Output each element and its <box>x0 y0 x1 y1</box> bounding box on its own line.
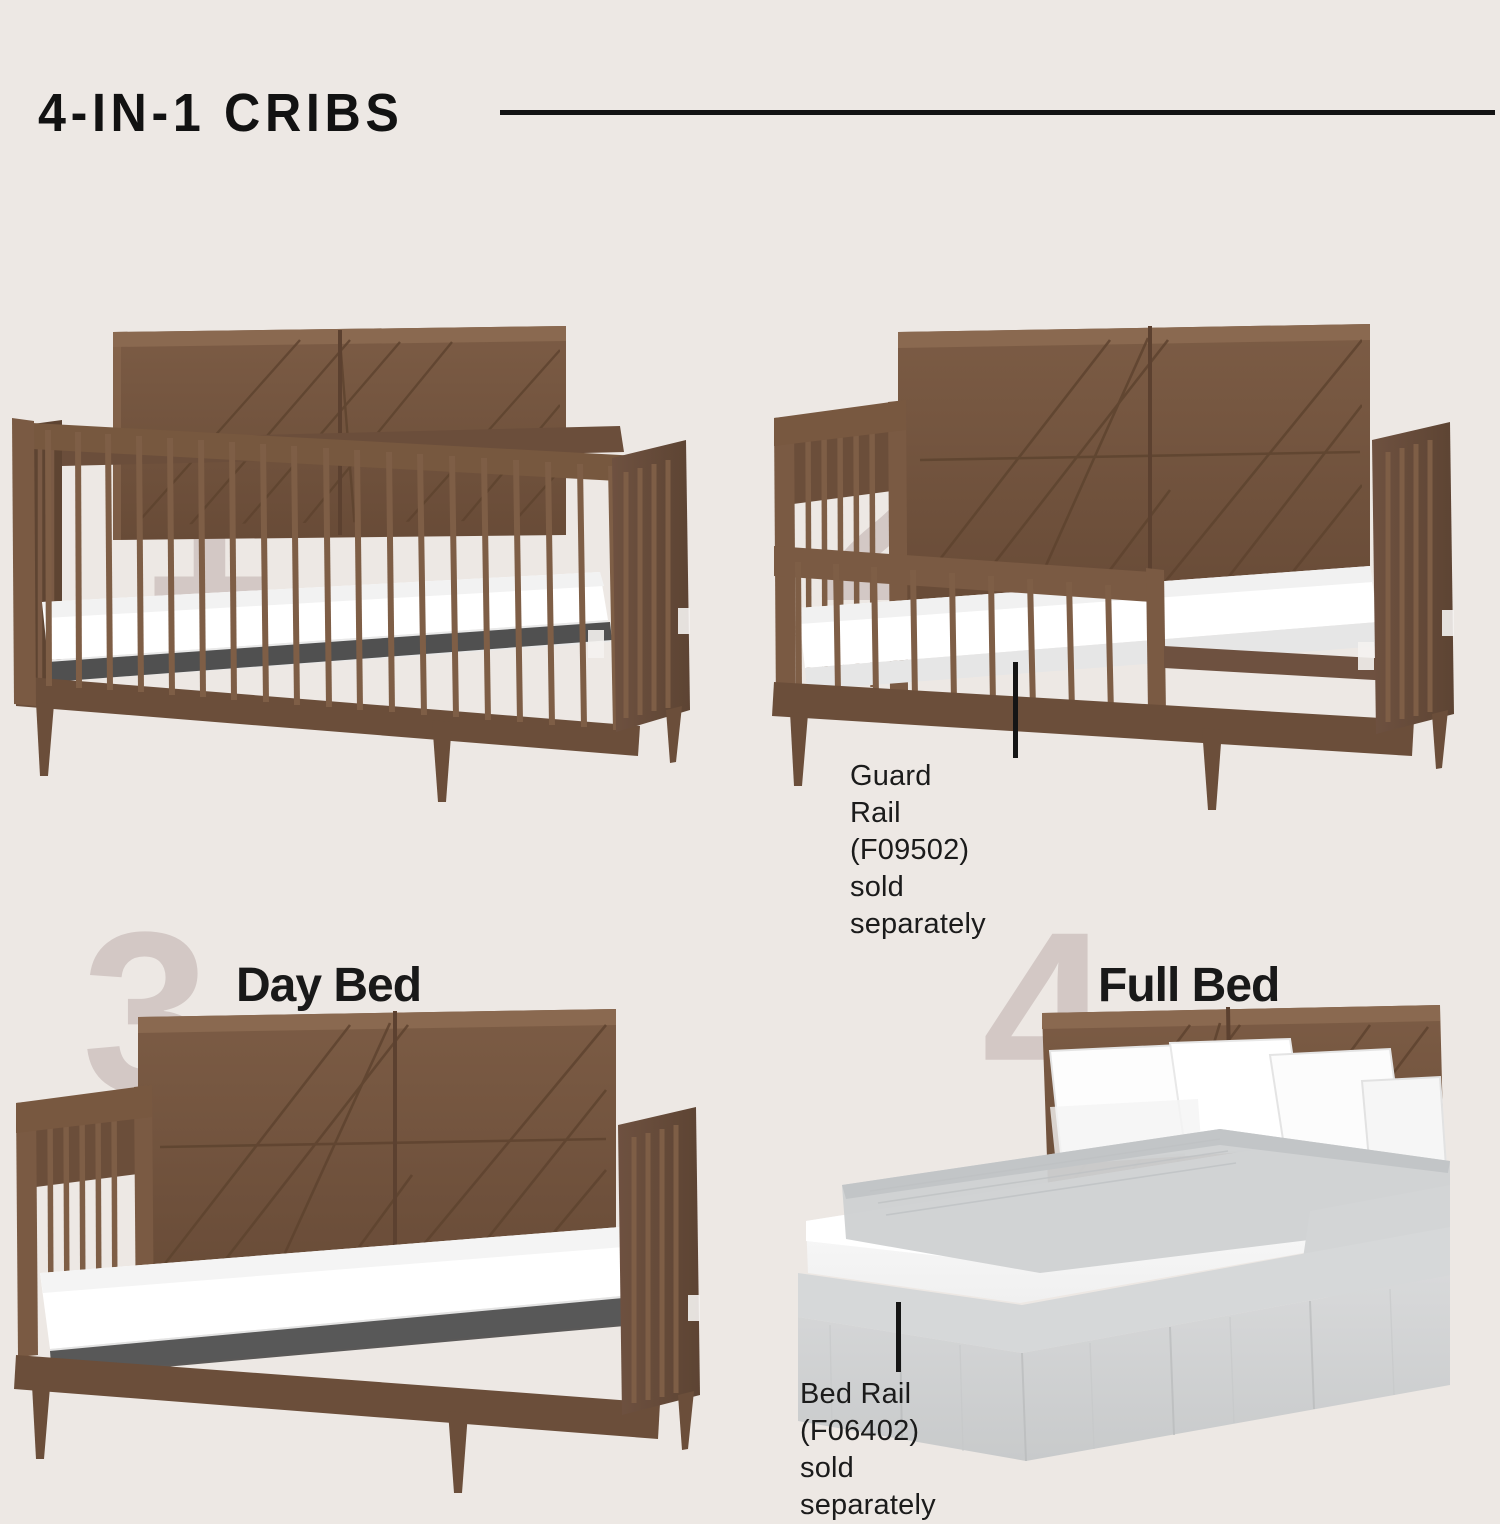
title-divider-rule <box>500 110 1495 115</box>
panel-day-bed: 3 Day Bed <box>0 850 750 1500</box>
guard-rail-leader-line <box>1013 662 1018 758</box>
panel-toddler-bed: 2 Toddler Bed <box>750 190 1500 850</box>
bed-rail-leader-line <box>896 1302 901 1372</box>
toddler-bed-illustration <box>750 190 1500 850</box>
infographic-page: 4-IN-1 CRIBS 1 Crib <box>0 0 1500 1500</box>
day-bed-illustration <box>0 850 750 1510</box>
bed-rail-caption: Bed Rail (F06402) sold separately <box>800 1376 936 1524</box>
panel-crib: 1 Crib <box>0 190 750 850</box>
daybed-right-end-panel <box>618 1107 700 1415</box>
toddler-right-end-panel <box>1372 422 1454 734</box>
page-title: 4-IN-1 CRIBS <box>38 86 404 140</box>
crib-right-end-panel <box>612 440 690 732</box>
crib-illustration <box>0 190 750 850</box>
